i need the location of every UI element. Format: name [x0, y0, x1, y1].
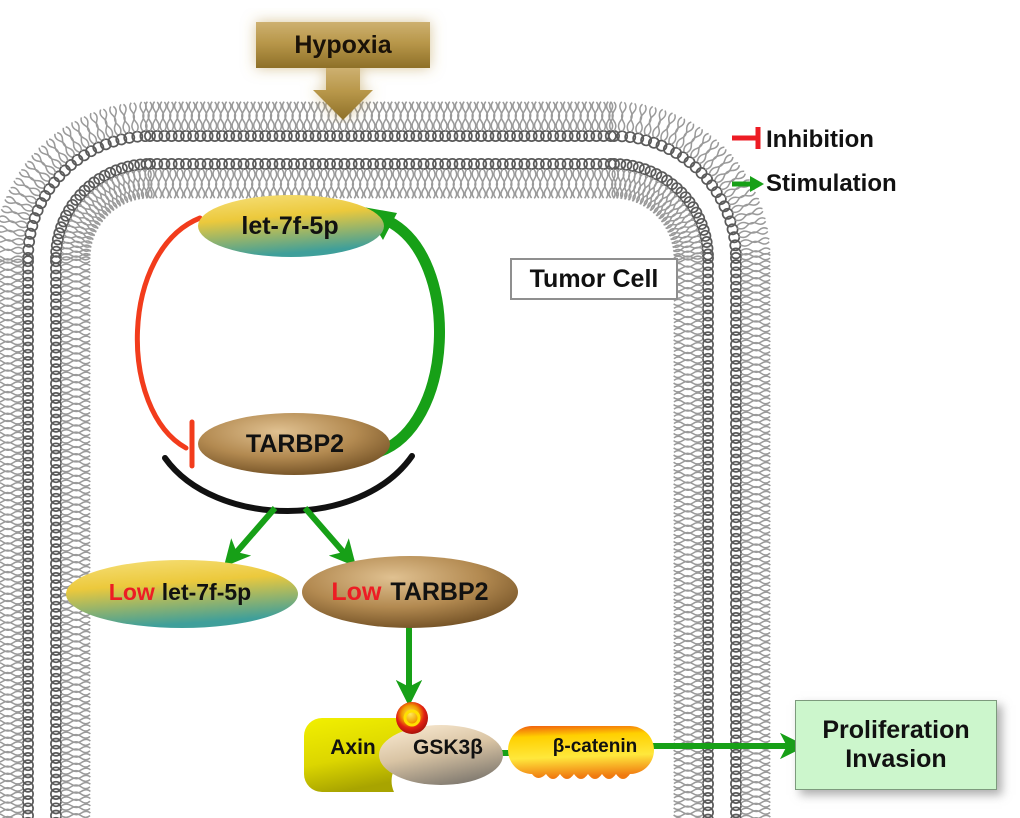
low-tarbp2-node: [300, 554, 520, 630]
pathway-diagram: Hypoxia Inhibition Stimulation Tumor Cel…: [0, 0, 1020, 818]
axin-gsk3b-complex: [300, 698, 510, 808]
let7-node: [196, 192, 386, 260]
tarbp2-node: [196, 410, 396, 478]
low-let7-node: [64, 558, 300, 630]
edge-inhibition-let7-tarbp2: [137, 218, 200, 466]
bcatenin-node: [506, 718, 666, 784]
edge-axis-to-low-let7: [228, 508, 275, 562]
pathway-edges: [0, 0, 1020, 818]
outcome-box: [795, 700, 997, 790]
